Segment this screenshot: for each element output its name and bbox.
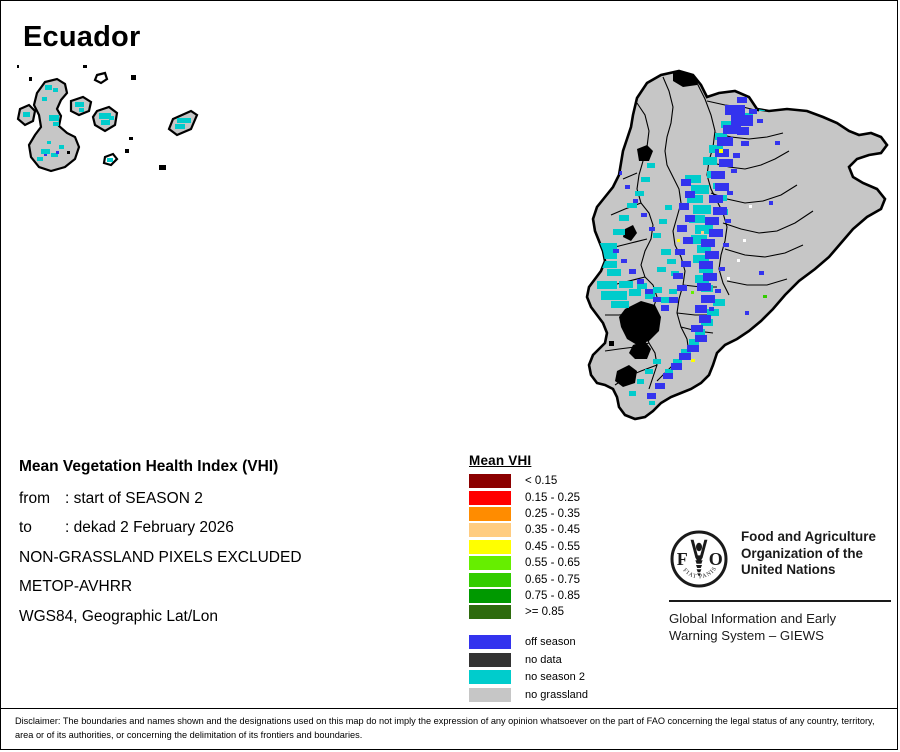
legend-label: 0.15 - 0.25: [525, 492, 580, 504]
fao-org-line-1: Food and Agriculture: [741, 529, 876, 546]
legend-swatch: [469, 589, 511, 603]
ecuador-map-svg: [1, 53, 898, 443]
legend-swatch: [469, 573, 511, 587]
legend-swatch: [469, 540, 511, 554]
disclaimer-divider: [1, 708, 898, 709]
fao-divider: [669, 600, 891, 602]
legend: Mean VHI < 0.15 0.15 - 0.25 0.25 - 0.35 …: [469, 453, 669, 704]
legend-label: 0.45 - 0.55: [525, 541, 580, 553]
page-title: Ecuador: [23, 21, 140, 54]
fao-emblem-icon: F O FIAT PANIS: [669, 529, 729, 589]
giews-line-1: Global Information and Early: [669, 611, 891, 628]
legend-separator: [469, 621, 669, 634]
legend-swatch: [469, 523, 511, 537]
legend-swatch: [469, 653, 511, 667]
legend-label: no data: [525, 654, 562, 666]
legend-label: < 0.15: [525, 475, 557, 487]
info-exclusion: NON-GRASSLAND PIXELS EXCLUDED: [19, 550, 449, 566]
legend-label: 0.55 - 0.65: [525, 557, 580, 569]
fao-org-line-3: United Nations: [741, 562, 876, 579]
legend-title: Mean VHI: [469, 453, 669, 468]
legend-label: off season: [525, 636, 576, 648]
legend-swatch: [469, 556, 511, 570]
legend-label: 0.25 - 0.35: [525, 508, 580, 520]
legend-item: 0.35 - 0.45: [469, 522, 669, 538]
info-from-row: from: start of SEASON 2: [19, 491, 449, 507]
legend-item: 0.25 - 0.35: [469, 506, 669, 522]
svg-text:O: O: [709, 549, 723, 569]
fao-branding: F O FIAT PANIS Food and Agriculture Orga…: [669, 529, 891, 645]
legend-item: 0.55 - 0.65: [469, 555, 669, 571]
info-to-key: to: [19, 520, 65, 536]
legend-label: >= 0.85: [525, 606, 564, 618]
legend-item-special: no grassland: [469, 686, 669, 704]
info-from-key: from: [19, 491, 65, 507]
legend-label: 0.75 - 0.85: [525, 590, 580, 602]
legend-item: 0.45 - 0.55: [469, 539, 669, 555]
legend-swatch: [469, 670, 511, 684]
map-canvas: [1, 53, 898, 443]
legend-item-special: no data: [469, 651, 669, 669]
legend-swatch: [469, 688, 511, 702]
giews-name: Global Information and Early Warning Sys…: [669, 611, 891, 645]
legend-swatch: [469, 605, 511, 619]
legend-swatch: [469, 507, 511, 521]
svg-text:F: F: [677, 549, 688, 569]
fao-org-name: Food and Agriculture Organization of the…: [741, 529, 876, 579]
legend-label: 0.35 - 0.45: [525, 524, 580, 536]
info-heading: Mean Vegetation Health Index (VHI): [19, 459, 449, 475]
legend-label: 0.65 - 0.75: [525, 574, 580, 586]
legend-item: 0.65 - 0.75: [469, 571, 669, 587]
legend-item: 0.15 - 0.25: [469, 489, 669, 505]
legend-label: no grassland: [525, 689, 588, 701]
info-from-value: : start of SEASON 2: [65, 490, 203, 507]
disclaimer-text: Disclaimer: The boundaries and names sho…: [15, 715, 885, 743]
legend-item-special: off season: [469, 634, 669, 652]
legend-label: no season 2: [525, 671, 585, 683]
legend-item: >= 0.85: [469, 604, 669, 620]
info-projection: WGS84, Geographic Lat/Lon: [19, 609, 449, 625]
fao-org-line-2: Organization of the: [741, 546, 876, 563]
legend-item: 0.75 - 0.85: [469, 588, 669, 604]
map-poster: Ecuador: [0, 0, 898, 750]
legend-item: < 0.15: [469, 473, 669, 489]
galapagos-islands: [18, 65, 197, 171]
giews-line-2: Warning System – GIEWS: [669, 628, 891, 645]
info-to-row: to: dekad 2 February 2026: [19, 520, 449, 536]
info-to-value: : dekad 2 February 2026: [65, 519, 234, 536]
legend-swatch: [469, 474, 511, 488]
legend-item-special: no season 2: [469, 669, 669, 687]
info-sensor: METOP-AVHRR: [19, 579, 449, 595]
ecuador-mainland: [587, 69, 887, 419]
map-info-block: Mean Vegetation Health Index (VHI) from:…: [19, 459, 449, 638]
legend-swatch: [469, 635, 511, 649]
legend-swatch: [469, 491, 511, 505]
